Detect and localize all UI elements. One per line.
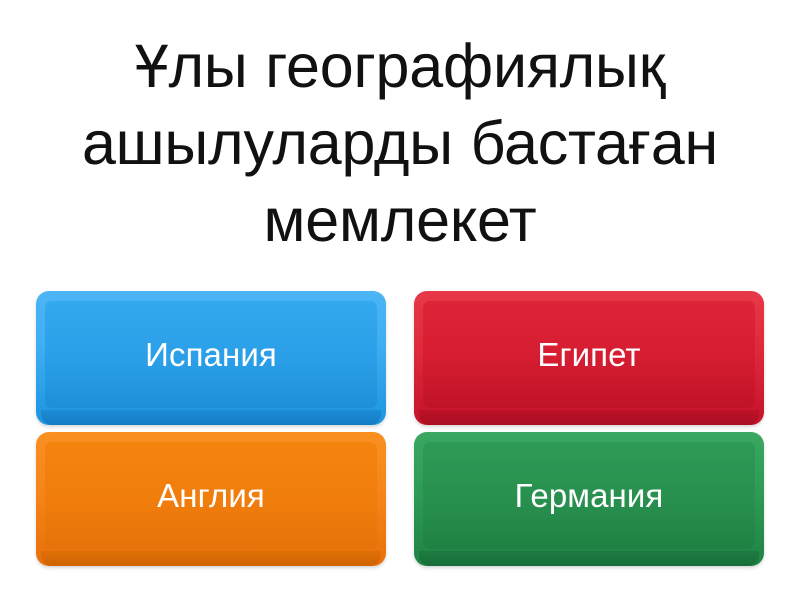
answer-button-4[interactable]: Германия xyxy=(414,432,764,566)
answer-button-3-label: Англия xyxy=(157,479,265,513)
answer-button-4-bevel xyxy=(419,551,759,566)
answer-button-2-label: Египет xyxy=(537,338,640,372)
answer-button-3-face: Англия xyxy=(45,442,377,549)
answer-button-3-bevel xyxy=(41,551,381,566)
question-area: Ұлы географиялық ашылуларды бастаған мем… xyxy=(0,14,800,272)
answer-button-1-bevel xyxy=(41,410,381,425)
answer-button-1[interactable]: Испания xyxy=(36,291,386,425)
question-text: Ұлы географиялық ашылуларды бастаған мем… xyxy=(28,28,772,259)
answer-button-2-face: Египет xyxy=(423,301,755,408)
answer-button-2[interactable]: Египет xyxy=(414,291,764,425)
answer-button-3[interactable]: Англия xyxy=(36,432,386,566)
answer-button-4-face: Германия xyxy=(423,442,755,549)
answer-button-2-bevel xyxy=(419,410,759,425)
quiz-screen: Ұлы географиялық ашылуларды бастаған мем… xyxy=(0,0,800,600)
answer-options-grid: Испания Египет Англия Германия xyxy=(36,291,764,566)
answer-button-1-label: Испания xyxy=(145,338,277,372)
answer-button-1-face: Испания xyxy=(45,301,377,408)
answer-button-4-label: Германия xyxy=(515,479,664,513)
